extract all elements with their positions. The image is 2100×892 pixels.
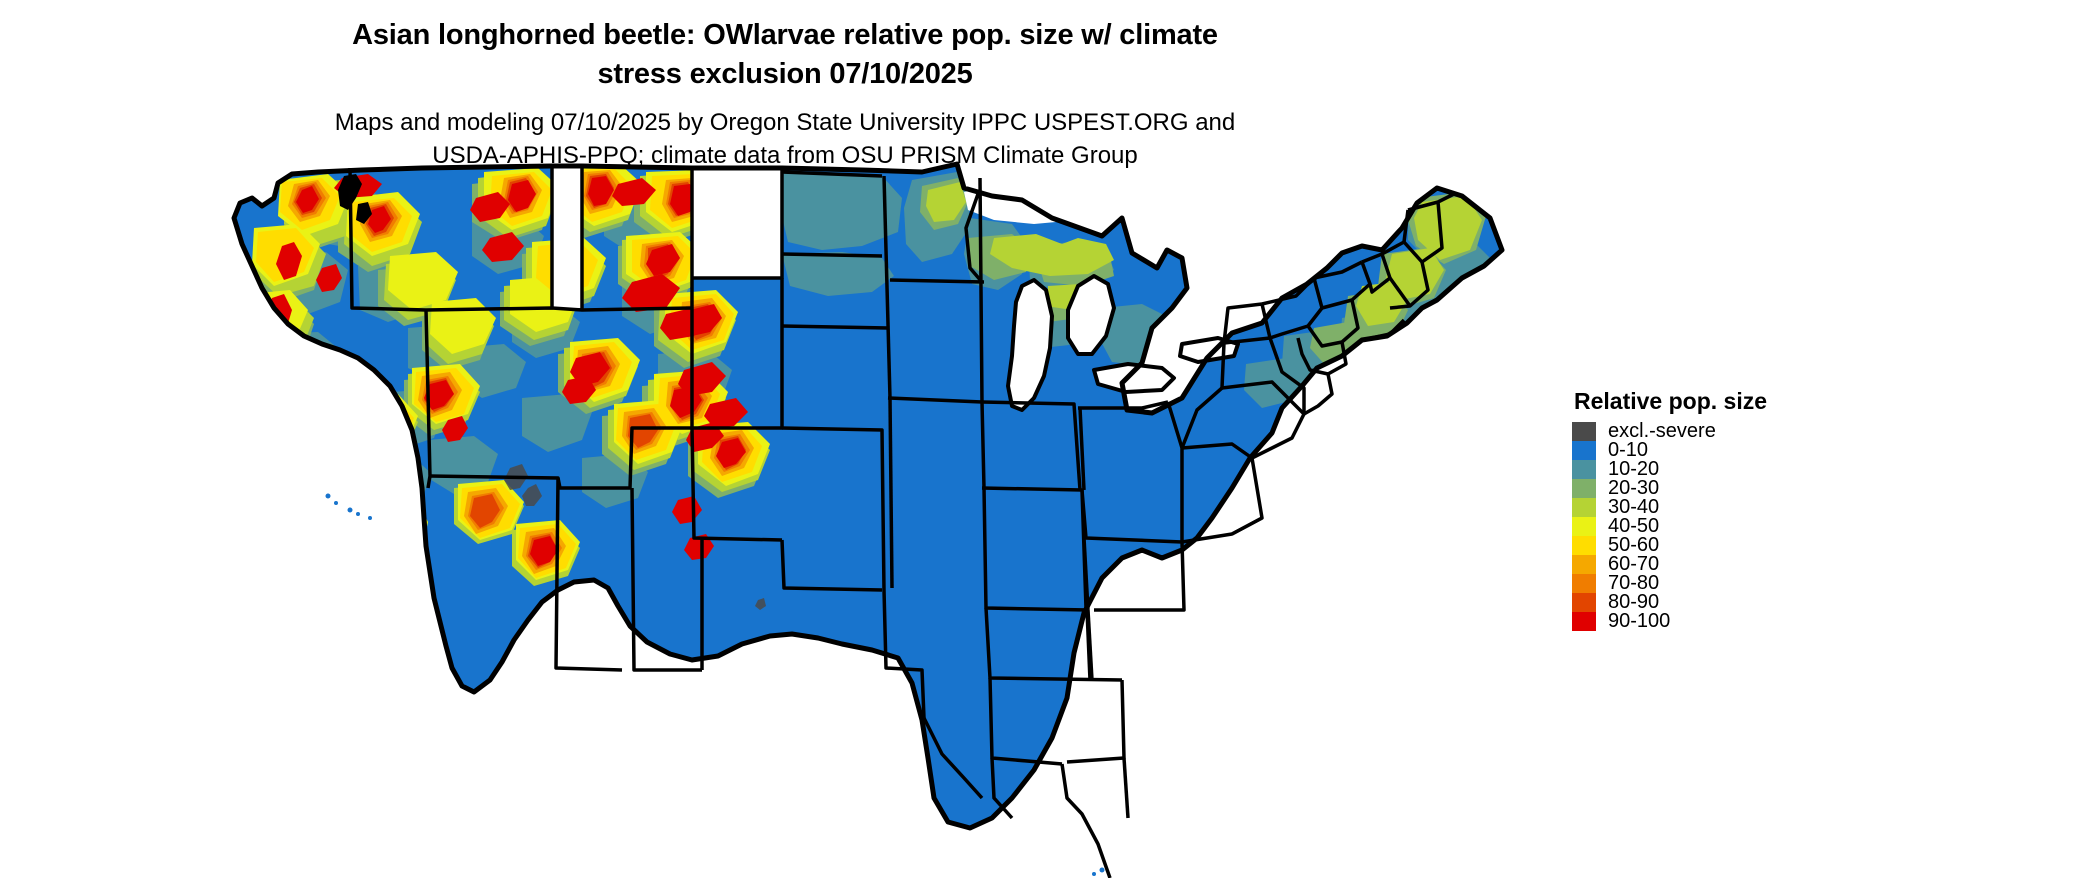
legend-swatch [1572,536,1596,555]
legend-swatch [1572,422,1596,441]
legend-swatch [1572,574,1596,593]
legend-title: Relative pop. size [1574,388,1872,415]
legend-row[interactable]: 90-100 [1572,612,1872,631]
page-title: Asian longhorned beetle: OWlarvae relati… [280,16,1290,93]
legend-swatch [1572,555,1596,574]
title-block: Asian longhorned beetle: OWlarvae relati… [0,16,1570,172]
legend-swatch [1572,460,1596,479]
legend: Relative pop. size excl.-severe 0-10 10-… [1572,388,1872,631]
legend-swatch [1572,498,1596,517]
legend-swatch [1572,517,1596,536]
legend-items: excl.-severe 0-10 10-20 20-30 30-40 40-5… [1572,422,1872,631]
legend-swatch [1572,612,1596,631]
map-canvas[interactable] [222,158,1552,878]
us-choropleth-map[interactable] [222,158,1552,878]
legend-swatch [1572,593,1596,612]
legend-swatch [1572,441,1596,460]
legend-label: 90-100 [1608,612,1670,631]
map-figure: Asian longhorned beetle: OWlarvae relati… [0,0,2100,892]
legend-swatch [1572,479,1596,498]
